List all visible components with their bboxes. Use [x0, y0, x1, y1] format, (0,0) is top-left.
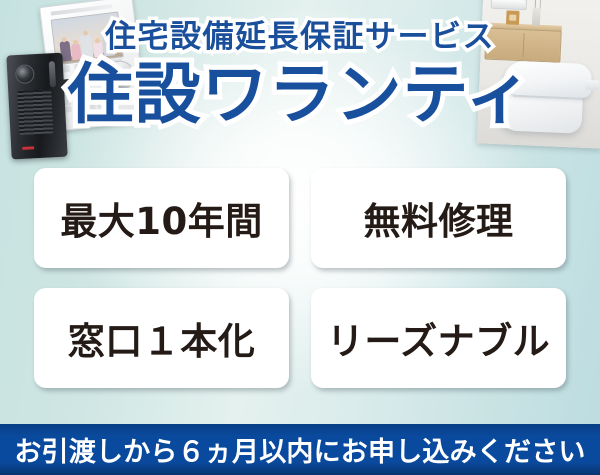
wall-vent-unit — [491, 0, 527, 10]
application-notice-text: お引渡しから６ヵ月以内にお申し込みください — [14, 430, 585, 469]
doorphone-indicator — [22, 146, 34, 150]
feature-card-free-repair: 無料修理 — [311, 168, 566, 268]
feature-card-grid: 最大10年間 無料修理 窓口１本化 リーズナブル — [34, 168, 566, 388]
feature-card-duration: 最大10年間 — [34, 168, 289, 268]
feature-card-label: 無料修理 — [364, 191, 514, 245]
feature-card-single-contact: 窓口１本化 — [34, 288, 289, 388]
service-title: 住設ワランティ — [0, 62, 600, 128]
warranty-banner: 住宅設備延長保証サービス 住設ワランティ 最大10年間 無料修理 窓口１本化 リ… — [0, 0, 600, 475]
feature-card-reasonable: リーズナブル — [311, 288, 566, 388]
application-notice-bar: お引渡しから６ヵ月以内にお申し込みください — [0, 424, 600, 475]
feature-card-label: 窓口１本化 — [68, 311, 256, 365]
service-subtitle: 住宅設備延長保証サービス — [0, 22, 600, 53]
feature-card-label: 最大10年間 — [60, 191, 263, 245]
feature-card-label: リーズナブル — [327, 311, 550, 365]
